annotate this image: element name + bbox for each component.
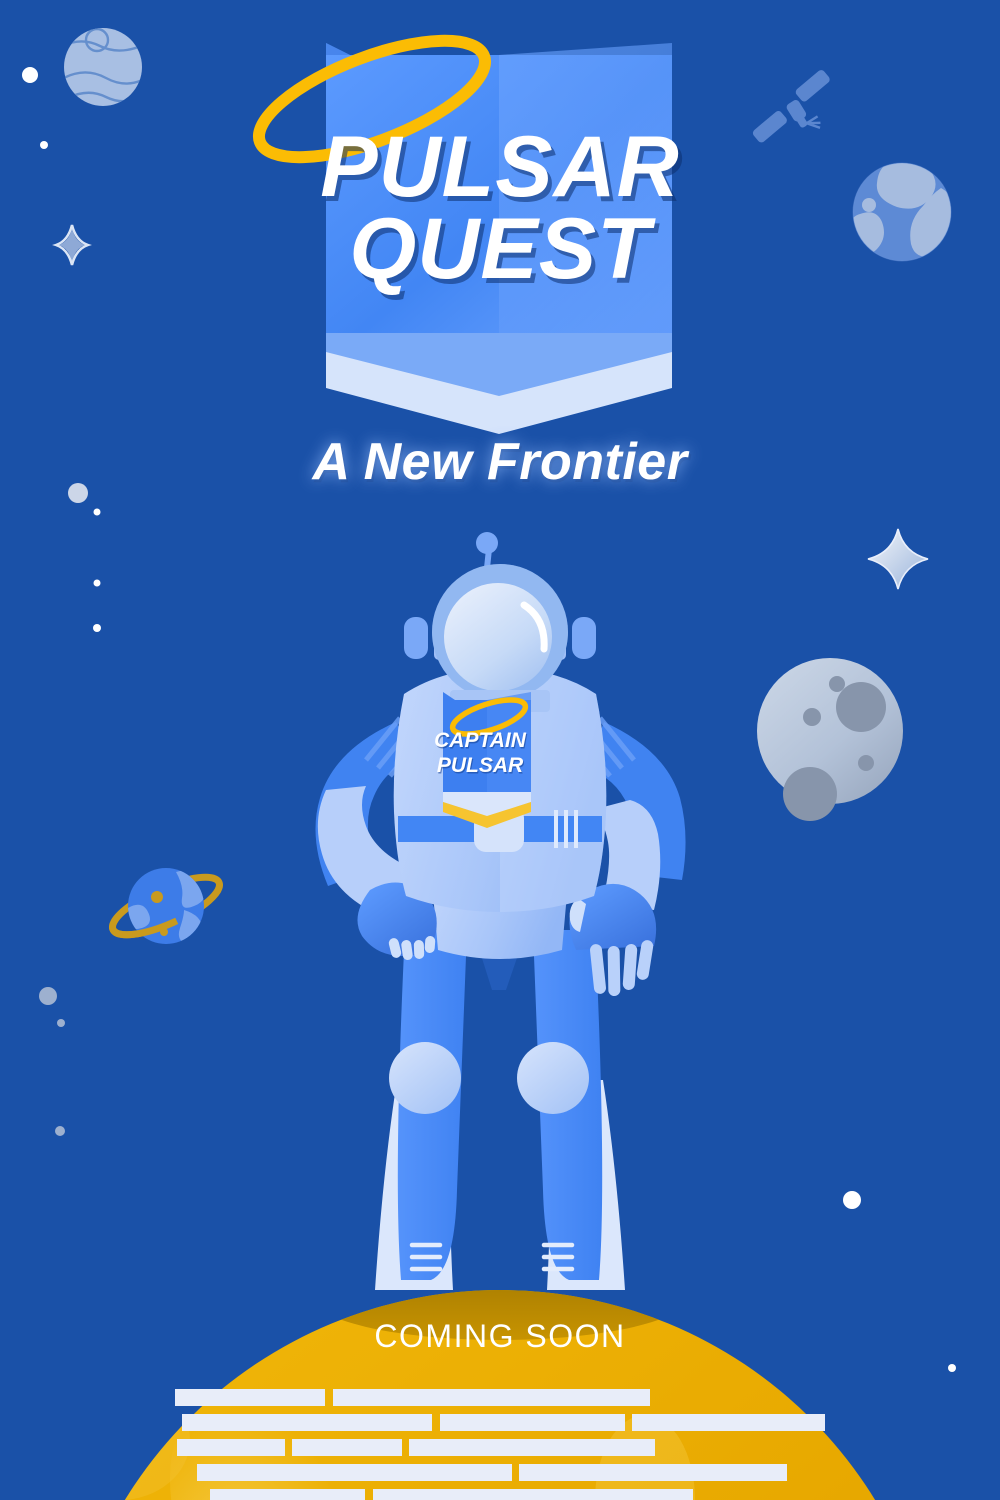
visor xyxy=(444,583,552,691)
poster-canvas: PULSAR QUEST A New Frontier CAPTAIN PULS… xyxy=(0,0,1000,1500)
chest-badge-line-2: PULSAR xyxy=(380,755,580,776)
logo-title-line-2: QUEST xyxy=(0,206,1000,292)
placeholder-row xyxy=(175,1389,650,1406)
knee-pad-left xyxy=(389,1042,461,1114)
placeholder-row xyxy=(182,1414,825,1431)
placeholder-row xyxy=(197,1464,787,1481)
placeholder-row xyxy=(177,1439,655,1456)
helmet-ear-right xyxy=(572,617,596,659)
poster-subtitle: A New Frontier xyxy=(0,432,1000,492)
placeholder-row xyxy=(210,1489,693,1500)
coming-soon-label: COMING SOON xyxy=(0,1318,1000,1355)
knee-pad-right xyxy=(517,1042,589,1114)
helmet-ear-left xyxy=(404,617,428,659)
logo-title-line-1: PULSAR xyxy=(0,124,1000,210)
antenna-ball xyxy=(476,532,498,554)
chest-badge-line-1: CAPTAIN xyxy=(380,730,580,751)
